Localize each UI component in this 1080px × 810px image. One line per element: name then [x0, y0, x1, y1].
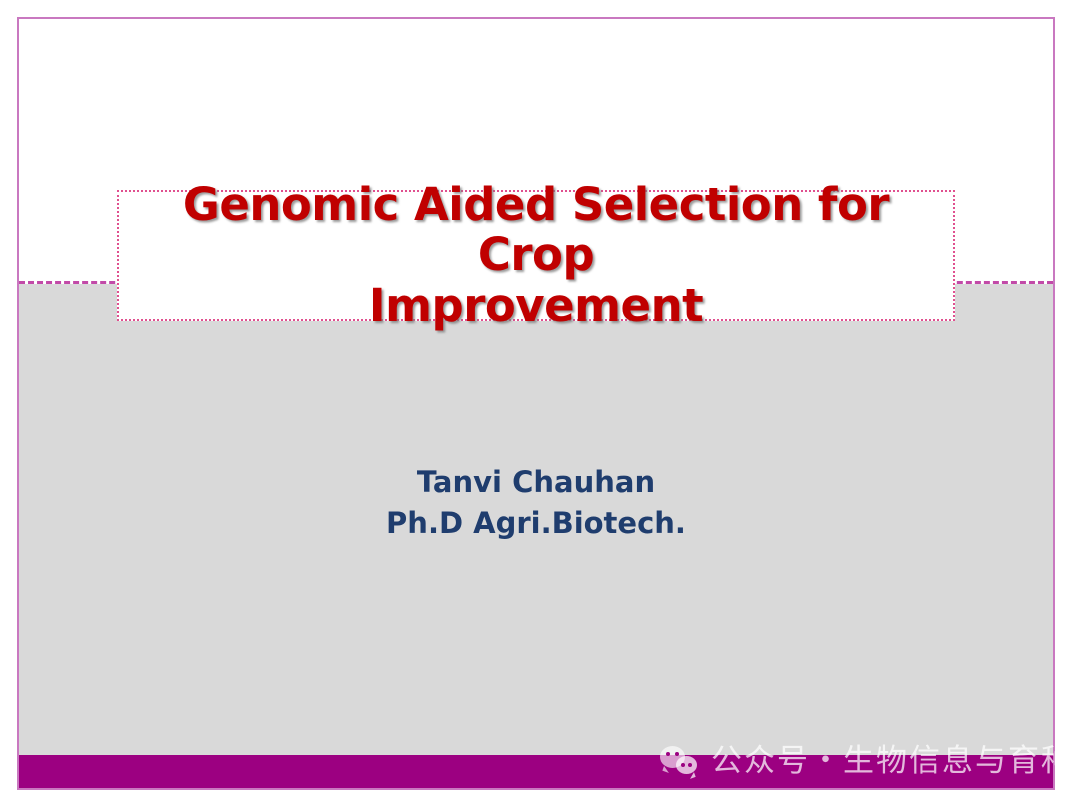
author-name: Tanvi Chauhan: [19, 462, 1053, 503]
slide-title: Genomic Aided Selection for Crop Improve…: [119, 180, 953, 331]
slide-canvas: Genomic Aided Selection for Crop Improve…: [0, 0, 1080, 810]
slide-border-frame: [17, 17, 1055, 790]
author-degree: Ph.D Agri.Biotech.: [19, 503, 1053, 544]
title-textbox[interactable]: Genomic Aided Selection for Crop Improve…: [117, 190, 955, 321]
author-block: Tanvi Chauhan Ph.D Agri.Biotech.: [19, 462, 1053, 544]
